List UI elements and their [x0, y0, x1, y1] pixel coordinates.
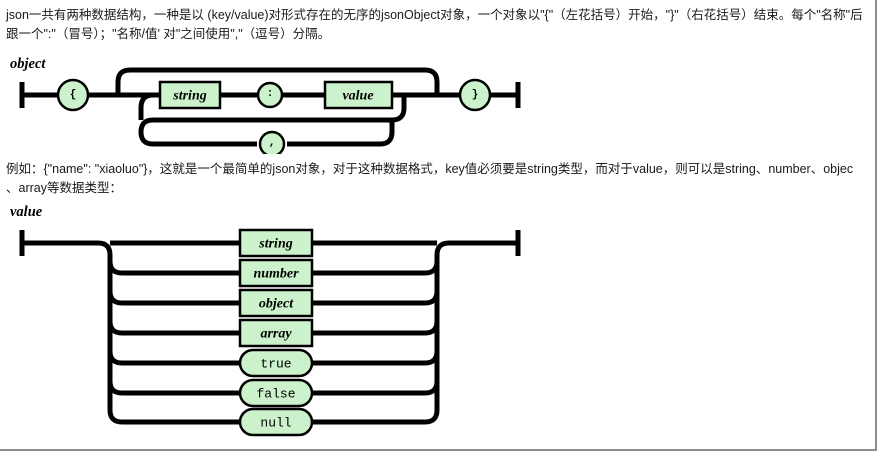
object-railroad-diagram: { string : value , } — [0, 64, 560, 159]
value-node-null-label: null — [260, 416, 291, 431]
value-node-number: number — [240, 260, 312, 286]
value-railroad-diagram: string number object array true false — [0, 222, 560, 447]
example-paragraph: 例如：{"name": "xiaoluo"}，这就是一个最简单的json对象，对… — [6, 160, 874, 198]
object-node-value-label: value — [342, 89, 373, 104]
value-node-object-label: object — [259, 297, 294, 312]
object-node-lbrace: { — [58, 80, 88, 110]
value-node-object: object — [240, 290, 312, 316]
document-page: json一共有两种数据结构，一种是以 (key/value)对形式存在的无序的j… — [0, 0, 877, 451]
value-left-spine — [110, 255, 122, 422]
object-node-rbrace: } — [460, 80, 490, 110]
object-node-colon: : — [258, 83, 282, 107]
value-node-null: null — [240, 409, 312, 435]
value-node-false: false — [240, 380, 312, 406]
object-node-string-label: string — [172, 89, 206, 104]
object-node-comma-label: , — [269, 137, 276, 149]
value-diagram-label: value — [10, 204, 42, 221]
object-node-value: value — [325, 82, 392, 108]
object-node-rbrace-label: } — [472, 89, 479, 101]
value-node-true: true — [240, 350, 312, 376]
object-node-comma: , — [260, 132, 284, 154]
value-right-spine — [425, 255, 437, 422]
object-node-string: string — [160, 82, 220, 108]
value-node-false-label: false — [256, 387, 295, 402]
value-node-array-label: array — [260, 327, 292, 342]
value-node-string: string — [240, 230, 312, 256]
value-node-number-label: number — [253, 267, 299, 282]
value-node-string-label: string — [258, 237, 292, 252]
object-node-lbrace-label: { — [70, 89, 77, 101]
intro-paragraph: json一共有两种数据结构，一种是以 (key/value)对形式存在的无序的j… — [6, 6, 874, 44]
value-node-array: array — [240, 320, 312, 346]
value-node-true-label: true — [260, 357, 291, 372]
object-node-colon-label: : — [267, 88, 274, 100]
